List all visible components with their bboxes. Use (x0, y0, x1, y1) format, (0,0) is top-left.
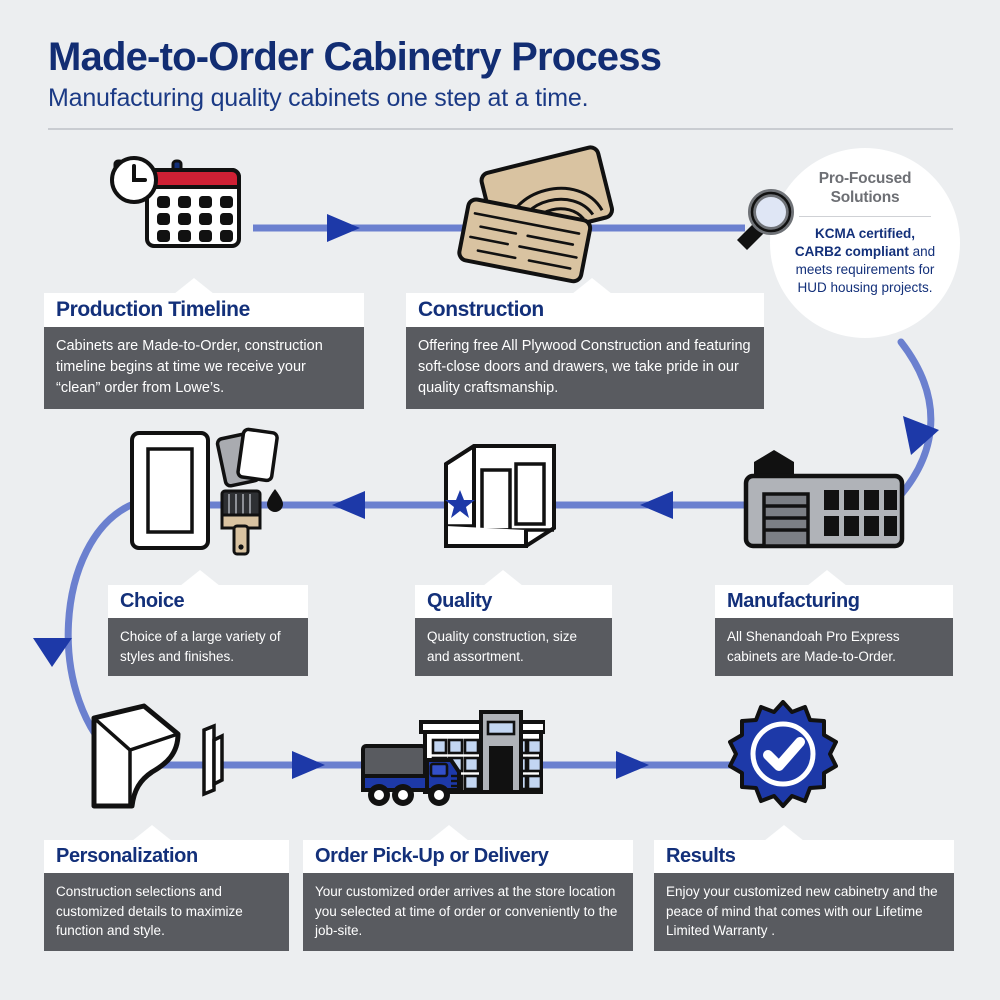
wood-planks-icon (448, 145, 648, 285)
card-title: Personalization (44, 840, 289, 873)
card-manufacturing: Manufacturing All Shenandoah Pro Express… (715, 585, 953, 676)
calendar-clock-icon (103, 153, 263, 268)
factory-icon (740, 450, 915, 560)
card-body: Cabinets are Made-to-Order, construction… (44, 327, 364, 409)
card-personalization: Personalization Construction selections … (44, 840, 289, 951)
flow-arrowhead-row3b (616, 751, 649, 779)
card-body: Enjoy your customized new cabinetry and … (654, 873, 954, 951)
bubble-divider (799, 216, 931, 217)
card-pointer (429, 825, 469, 841)
magnifying-glass-icon (729, 188, 803, 260)
flow-arrowhead-row2a (640, 491, 673, 519)
card-quality: Quality Quality construction, size and a… (415, 585, 612, 676)
bubble-body-bold-2: CARB2 compliant (795, 244, 909, 259)
card-results: Results Enjoy your customized new cabine… (654, 840, 954, 951)
card-body: Quality construction, size and assortmen… (415, 618, 612, 676)
card-pointer (572, 278, 612, 294)
card-pointer (483, 570, 523, 586)
card-pointer (174, 278, 214, 294)
card-body: All Shenandoah Pro Express cabinets are … (715, 618, 953, 676)
check-badge-icon (728, 700, 838, 810)
card-pointer (132, 825, 172, 841)
card-pointer (807, 570, 847, 586)
card-choice: Choice Choice of a large variety of styl… (108, 585, 308, 676)
card-title: Construction (406, 293, 764, 327)
cabinet-star-icon (430, 442, 575, 564)
card-body: Your customized order arrives at the sto… (303, 873, 633, 951)
flow-arrowhead-row3a (292, 751, 325, 779)
card-title: Choice (108, 585, 308, 618)
card-body: Construction selections and customized d… (44, 873, 289, 951)
card-pointer (180, 570, 220, 586)
card-title: Production Timeline (44, 293, 364, 327)
card-construction: Construction Offering free All Plywood C… (406, 293, 764, 409)
truck-store-icon (355, 700, 545, 815)
card-body: Choice of a large variety of styles and … (108, 618, 308, 676)
flow-arrowhead-row1 (327, 214, 360, 242)
card-title: Order Pick-Up or Delivery (303, 840, 633, 873)
card-pointer (764, 825, 804, 841)
crown-molding-handle-icon (82, 702, 247, 814)
card-title: Manufacturing (715, 585, 953, 618)
infographic-canvas: Made-to-Order Cabinetry Process Manufact… (0, 0, 1000, 1000)
card-body: Offering free All Plywood Construction a… (406, 327, 764, 409)
bubble-body: KCMA certified, CARB2 compliant and meet… (794, 225, 936, 297)
paint-swatch-brush-icon (124, 425, 294, 560)
bubble-body-bold-1: KCMA certified, (815, 226, 915, 241)
flow-arrowhead-row2b (332, 491, 365, 519)
bubble-title: Pro-Focused Solutions (819, 170, 912, 207)
card-title: Quality (415, 585, 612, 618)
card-order-pickup-or-delivery: Order Pick-Up or Delivery Your customize… (303, 840, 633, 951)
card-title: Results (654, 840, 954, 873)
card-production-timeline: Production Timeline Cabinets are Made-to… (44, 293, 364, 409)
